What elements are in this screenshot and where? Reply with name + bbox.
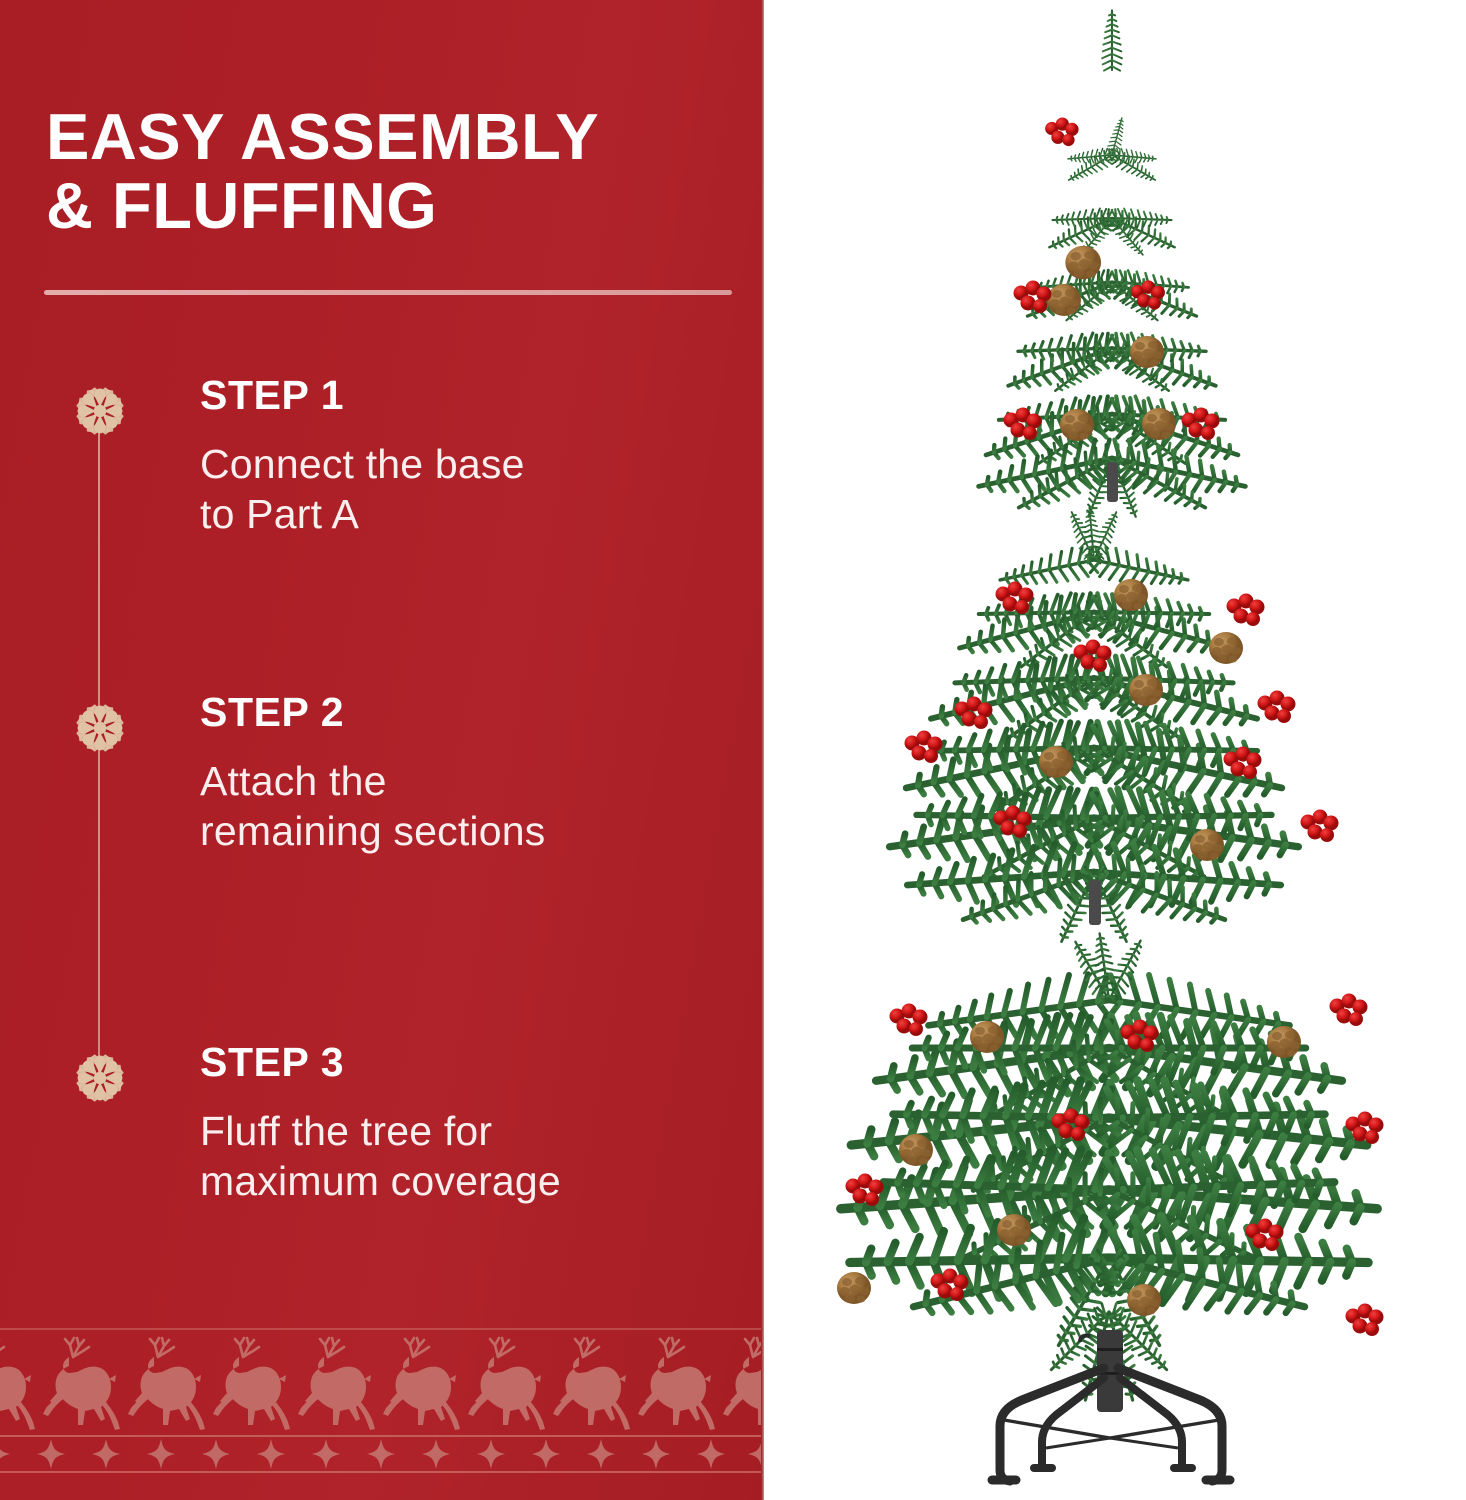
four-point-star-pattern (0, 1435, 764, 1473)
tree-middle-section (885, 507, 1339, 947)
christmas-tree-illustration (764, 0, 1466, 1500)
product-infographic: EASY ASSEMBLY & FLUFFING (0, 0, 1466, 1500)
step-description: Fluff the tree for maximum coverage (200, 1106, 720, 1207)
step-description-line-2: to Part A (200, 491, 359, 537)
snowflake-icon (67, 1045, 133, 1111)
star-pattern-band (0, 1435, 764, 1473)
decorative-reindeer-band (0, 1328, 764, 1500)
step-label: STEP 2 (200, 692, 720, 733)
step-label: STEP 3 (200, 1042, 720, 1083)
tree-stand (992, 1330, 1230, 1481)
snowflake-icon (67, 378, 133, 444)
step-description-line-2: remaining sections (200, 808, 545, 854)
snowflake-icon (67, 695, 133, 761)
tree-top-section (974, 10, 1250, 523)
star-band-top-rule (0, 1435, 764, 1437)
step-description-line-1: Connect the base (200, 441, 525, 487)
step-text-block: STEP 2 Attach the remaining sections (200, 692, 720, 857)
reindeer-pattern (0, 1330, 764, 1435)
step-label: STEP 1 (200, 375, 720, 416)
step-description-line-1: Fluff the tree for (200, 1108, 492, 1154)
step-text-block: STEP 3 Fluff the tree for maximum covera… (200, 1042, 720, 1207)
step-description-line-2: maximum coverage (200, 1158, 561, 1204)
step-description: Connect the base to Part A (200, 439, 720, 540)
product-photo (764, 0, 1466, 1500)
star-band-bottom-rule (0, 1471, 764, 1473)
step-text-block: STEP 1 Connect the base to Part A (200, 375, 720, 540)
step-description-line-1: Attach the (200, 758, 387, 804)
step-description: Attach the remaining sections (200, 756, 720, 857)
instructions-panel: EASY ASSEMBLY & FLUFFING (0, 0, 764, 1500)
steps-list: STEP 1 Connect the base to Part A (0, 0, 764, 1230)
